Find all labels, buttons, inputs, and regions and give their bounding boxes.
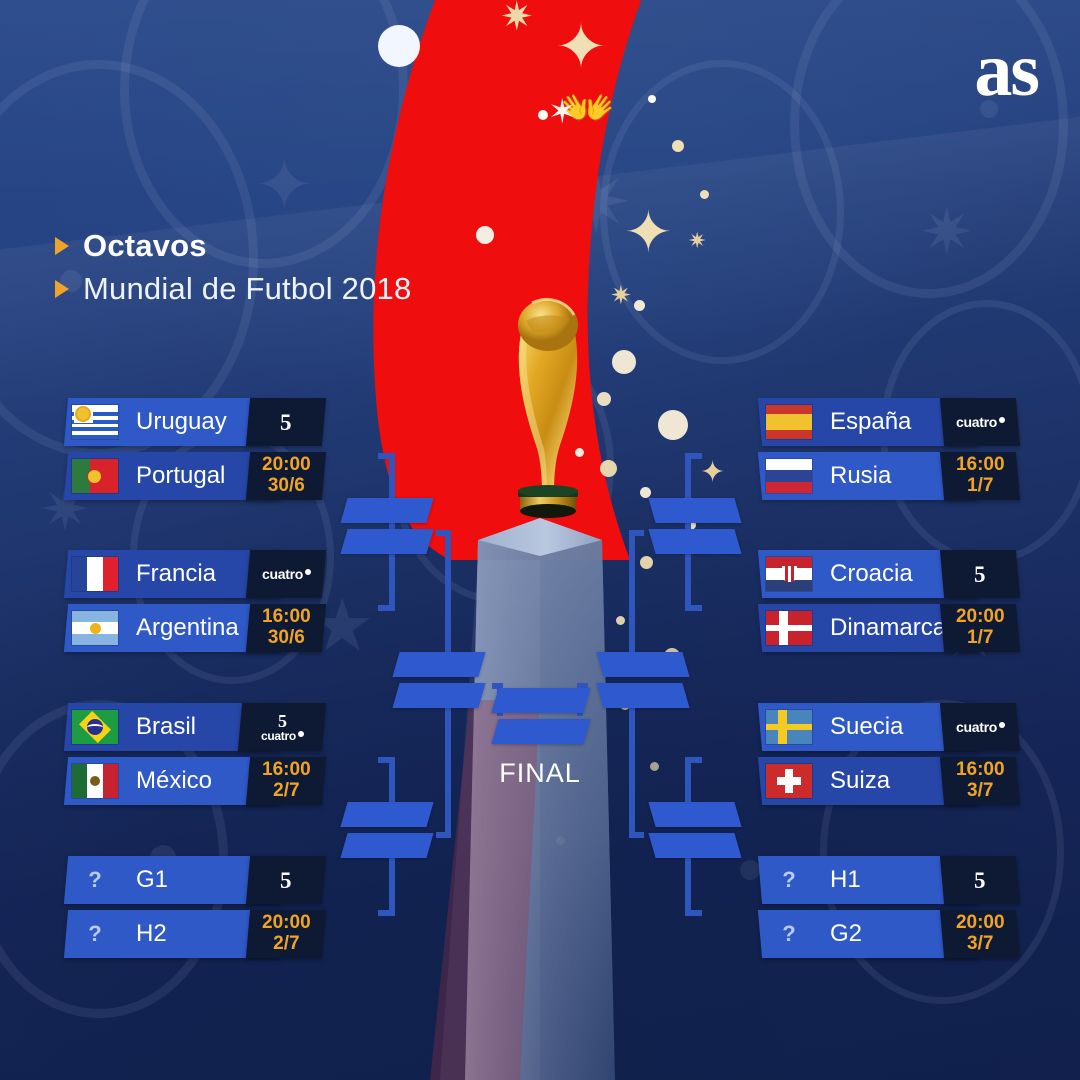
team-row[interactable]: Croacia 5 <box>760 550 1018 598</box>
team-name: México <box>136 767 212 795</box>
team-row[interactable]: ? H2 20:002/7 <box>66 910 324 958</box>
slot-bar[interactable] <box>340 833 433 858</box>
kickoff-badge[interactable]: 16:001/7 <box>940 452 1020 500</box>
team-name: Suiza <box>830 767 890 795</box>
match-time: 20:001/7 <box>956 607 1005 648</box>
match-block[interactable]: Brasil 5cuatro México <box>66 703 324 811</box>
kickoff-badge[interactable]: 16:003/7 <box>940 757 1020 805</box>
team-name: Portugal <box>136 462 225 490</box>
flag-brasil-icon <box>72 710 118 744</box>
quarterfinal-slot-left-1[interactable] <box>344 498 430 554</box>
team-row[interactable]: ? G1 5 <box>66 856 324 904</box>
slot-bar[interactable] <box>392 683 485 708</box>
page-title: Octavos <box>83 228 207 264</box>
team-name: Francia <box>136 560 216 588</box>
team-name: España <box>830 408 911 436</box>
team-row[interactable]: ? H1 5 <box>760 856 1018 904</box>
unknown-team-icon: ? <box>72 867 118 893</box>
slot-bar[interactable] <box>392 652 485 677</box>
team-row[interactable]: Suecia cuatro <box>760 703 1018 751</box>
kickoff-badge[interactable]: 16:002/7 <box>246 757 326 805</box>
match-block[interactable]: España cuatro Rusia <box>760 398 1018 506</box>
flag-croacia-icon <box>766 557 812 591</box>
flag-argentina-icon <box>72 611 118 645</box>
match-time: 16:001/7 <box>956 455 1005 496</box>
team-row[interactable]: Rusia 16:001/7 <box>760 452 1018 500</box>
match-time: 16:002/7 <box>262 760 311 801</box>
match-block[interactable]: ? G1 5 ? H2 <box>66 856 324 964</box>
kickoff-badge[interactable]: 20:003/7 <box>940 910 1020 958</box>
match-date: 30/6 <box>268 627 305 648</box>
slot-bar[interactable] <box>340 498 433 523</box>
match-date: 30/6 <box>268 475 305 496</box>
channel-cuatro-icon: cuatro <box>956 415 1005 429</box>
headline-block: Octavos Mundial de Futbol 2018 <box>55 228 411 314</box>
triangle-bullet-icon <box>55 280 69 298</box>
channel-telecinco-icon: 5 <box>280 869 292 892</box>
match-date: 2/7 <box>273 780 299 801</box>
team-name: H1 <box>830 866 861 894</box>
world-cup-trophy-icon <box>492 285 602 535</box>
team-row[interactable]: Brasil 5cuatro <box>66 703 324 751</box>
kickoff-badge[interactable]: 20:0030/6 <box>246 452 326 500</box>
flag-dinamarca-icon <box>766 611 812 645</box>
unknown-team-icon: ? <box>72 921 118 947</box>
channel-badge[interactable]: 5cuatro <box>238 703 326 751</box>
channel-cuatro-icon: cuatro <box>262 567 311 581</box>
triangle-bullet-icon <box>55 237 69 255</box>
channel-telecinco-icon: 5 <box>974 563 986 586</box>
channel-badge[interactable]: cuatro <box>246 550 326 598</box>
slot-bar[interactable] <box>648 498 741 523</box>
match-date: 1/7 <box>967 627 993 648</box>
match-date: 3/7 <box>967 780 993 801</box>
match-block[interactable]: Suecia cuatro Suiza <box>760 703 1018 811</box>
title-primary-row: Octavos <box>55 228 411 264</box>
team-name: Rusia <box>830 462 891 490</box>
kickoff-badge[interactable]: 20:001/7 <box>940 604 1020 652</box>
channel-badge[interactable]: 5 <box>940 550 1020 598</box>
channel-cuatro-icon: cuatro <box>956 720 1005 734</box>
flag-suecia-icon <box>766 710 812 744</box>
match-time: 20:0030/6 <box>262 455 311 496</box>
slot-bar[interactable] <box>491 719 590 744</box>
team-name: Suecia <box>830 713 903 741</box>
semifinal-slot-right[interactable] <box>600 652 686 708</box>
match-time: 16:003/7 <box>956 760 1005 801</box>
semifinal-slot-left[interactable] <box>396 652 482 708</box>
channel-badge[interactable]: 5 <box>246 398 326 446</box>
team-row[interactable]: Francia cuatro <box>66 550 324 598</box>
match-block[interactable]: Francia cuatro Argenti <box>66 550 324 658</box>
team-row[interactable]: Suiza 16:003/7 <box>760 757 1018 805</box>
slot-bar[interactable] <box>648 833 741 858</box>
channel-telecinco-icon: 5 <box>280 411 292 434</box>
team-name: Uruguay <box>136 408 227 436</box>
team-row[interactable]: España cuatro <box>760 398 1018 446</box>
channel-cuatro-icon: cuatro <box>261 730 304 742</box>
team-name: H2 <box>136 920 167 948</box>
quarterfinal-slot-left-2[interactable] <box>344 802 430 858</box>
quarterfinal-slot-right-2[interactable] <box>652 802 738 858</box>
team-name: Croacia <box>830 560 913 588</box>
match-time: 16:0030/6 <box>262 607 311 648</box>
match-date: 3/7 <box>967 933 993 954</box>
slot-bar[interactable] <box>596 683 689 708</box>
flag-francia-icon <box>72 557 118 591</box>
kickoff-badge[interactable]: 16:0030/6 <box>246 604 326 652</box>
slot-bar[interactable] <box>340 529 433 554</box>
channel-badge[interactable]: 5 <box>246 856 326 904</box>
channel-badge[interactable]: cuatro <box>940 703 1020 751</box>
team-name: Argentina <box>136 614 239 642</box>
match-block[interactable]: ? H1 5 ? G2 <box>760 856 1018 964</box>
team-name: Dinamarca <box>830 614 946 642</box>
match-time: 20:002/7 <box>262 913 311 954</box>
page-subtitle: Mundial de Futbol 2018 <box>83 271 411 307</box>
team-name: G2 <box>830 920 862 948</box>
channel-telecinco-icon: 5 <box>974 869 986 892</box>
flag-portugal-icon <box>72 459 118 493</box>
team-row[interactable]: México 16:002/7 <box>66 757 324 805</box>
as-brand-logo: as <box>974 32 1038 108</box>
match-block[interactable]: Uruguay 5 Portugal <box>66 398 324 506</box>
channel-badge[interactable]: cuatro <box>940 398 1020 446</box>
team-row[interactable]: Uruguay 5 <box>66 398 324 446</box>
channel-telecinco-icon: 5 <box>278 712 287 730</box>
match-block[interactable]: Croacia 5 Dinamarca <box>760 550 1018 658</box>
kickoff-badge[interactable]: 20:002/7 <box>246 910 326 958</box>
flag-espana-icon <box>766 405 812 439</box>
slot-bar[interactable] <box>596 652 689 677</box>
team-row[interactable]: Dinamarca 20:001/7 <box>760 604 1018 652</box>
slot-bar[interactable] <box>340 802 433 827</box>
slot-bar[interactable] <box>491 688 590 713</box>
flag-rusia-icon <box>766 459 812 493</box>
team-name: G1 <box>136 866 168 894</box>
infographic-canvas: ✷ ✷ ✦ ✷ ★ ★ ✷ ✦ 👐 ✶ ✦ ✷ ✷ ✦ <box>0 0 1080 1080</box>
slot-bar[interactable] <box>648 529 741 554</box>
quarterfinal-slot-right-1[interactable] <box>652 498 738 554</box>
title-secondary-row: Mundial de Futbol 2018 <box>55 271 411 307</box>
unknown-team-icon: ? <box>766 867 812 893</box>
match-date: 2/7 <box>273 933 299 954</box>
flag-uruguay-icon <box>72 405 118 439</box>
unknown-team-icon: ? <box>766 921 812 947</box>
flag-suiza-icon <box>766 764 812 798</box>
slot-bar[interactable] <box>648 802 741 827</box>
final-slot[interactable] <box>495 688 587 744</box>
match-time: 20:003/7 <box>956 913 1005 954</box>
team-row[interactable]: Argentina 16:0030/6 <box>66 604 324 652</box>
team-row[interactable]: ? G2 20:003/7 <box>760 910 1018 958</box>
match-date: 1/7 <box>967 475 993 496</box>
channel-badge[interactable]: 5 <box>940 856 1020 904</box>
flag-mexico-icon <box>72 764 118 798</box>
team-row[interactable]: Portugal 20:0030/6 <box>66 452 324 500</box>
team-name: Brasil <box>136 713 196 741</box>
